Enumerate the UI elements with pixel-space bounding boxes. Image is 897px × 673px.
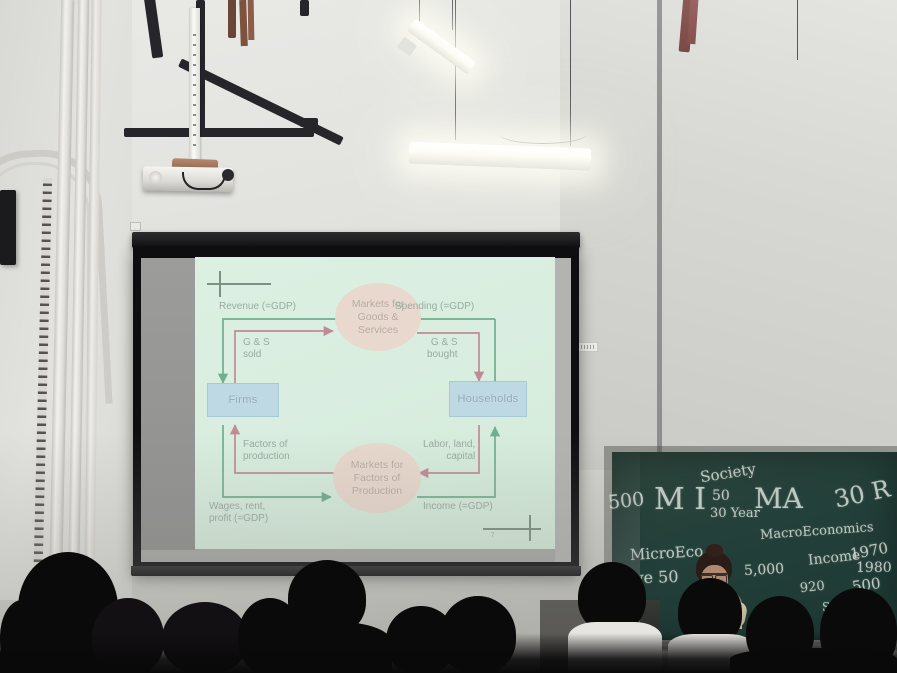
- chalk-note: 30 R: [832, 474, 893, 513]
- chalk-note: Society: [699, 460, 757, 487]
- label-goods-and-services-sold: G & S sold: [243, 337, 270, 361]
- sagging-cable: [500, 125, 586, 144]
- projector-mount-pole: [189, 8, 200, 168]
- chalk-note: MA: [754, 482, 803, 515]
- chalk-note: M I: [654, 482, 706, 517]
- chalk-note: 30 Year: [710, 506, 760, 521]
- node-households: Households: [449, 381, 527, 417]
- hanging-wire: [452, 0, 453, 30]
- chalk-note: 5,000: [744, 561, 785, 579]
- wall-speaker: [0, 190, 16, 265]
- foreground-vignette: [0, 633, 897, 673]
- label-spending: Spending (=GDP): [395, 301, 474, 313]
- wall-socket: [130, 222, 141, 231]
- ceiling-beam: [228, 0, 236, 38]
- hanging-wire: [455, 0, 456, 140]
- node-markets-for-goods-and-services: Markets for Goods & Services: [335, 283, 421, 351]
- chalk-note: MacroEconomics: [760, 520, 874, 543]
- chalk-note: 50: [712, 488, 730, 504]
- ceiling-beam: [300, 0, 309, 16]
- node-firms: Firms: [207, 383, 279, 417]
- chalk-note: 1980: [856, 560, 892, 576]
- lecturer-hair-bun: [706, 544, 723, 557]
- chalk-note: 920: [799, 579, 825, 597]
- ceiling-beam: [124, 128, 314, 137]
- node-firms-label: Firms: [229, 394, 258, 406]
- projector-lens-icon: [149, 171, 162, 184]
- label-goods-and-services-bought: G & S bought: [427, 337, 458, 361]
- classroom-photo: 7: [0, 0, 897, 673]
- right-wall: [560, 0, 897, 470]
- label-revenue: Revenue (=GDP): [219, 301, 296, 313]
- projector-knob: [222, 169, 234, 181]
- copper-pipe: [248, 0, 255, 40]
- hanging-wire: [797, 0, 798, 60]
- door-edge: [657, 0, 662, 452]
- node-households-label: Households: [457, 393, 518, 405]
